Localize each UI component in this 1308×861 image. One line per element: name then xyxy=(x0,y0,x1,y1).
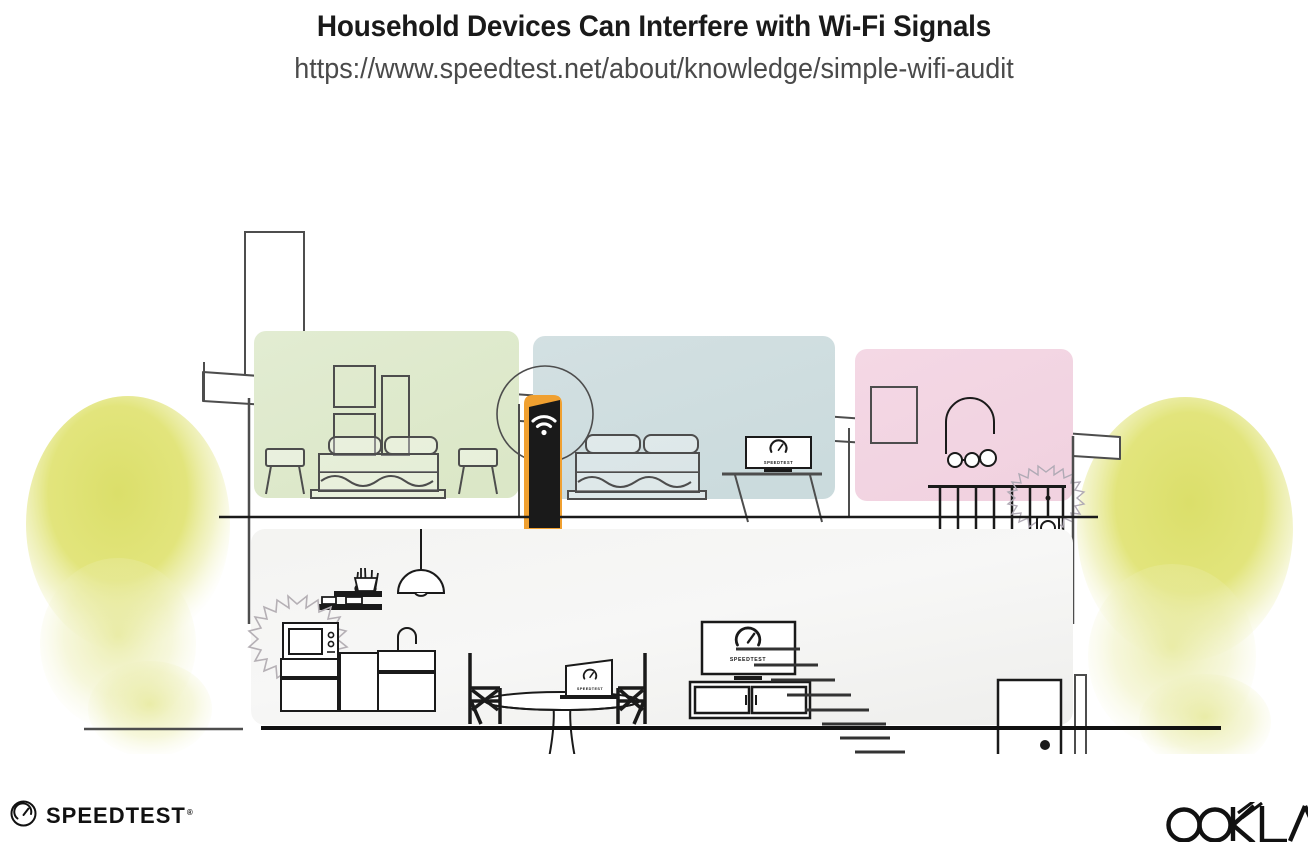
screen-label: SPEEDTEST xyxy=(764,460,793,465)
speedtest-logo: SPEEDTEST® xyxy=(10,800,194,832)
ookla-logo: ™ xyxy=(1162,802,1308,842)
microwave xyxy=(283,623,338,660)
source-url: https://www.speedtest.net/about/knowledg… xyxy=(46,46,1262,87)
monitor: SPEEDTEST xyxy=(746,437,811,472)
media-console xyxy=(690,682,810,718)
screen-label: SPEEDTEST xyxy=(577,687,603,691)
footer: SPEEDTEST® ™ xyxy=(0,782,1308,861)
ground-lines xyxy=(84,728,1221,729)
trademark-symbol: ® xyxy=(187,808,194,817)
kitchen-counter xyxy=(281,651,435,711)
infographic-page: Household Devices Can Interfere with Wi-… xyxy=(0,0,1308,861)
speedometer-icon xyxy=(10,800,37,832)
room-living-kitchen: SPEEDTEST xyxy=(249,529,1086,754)
television: SPEEDTEST xyxy=(702,622,795,680)
room-bedroom-green xyxy=(254,331,519,498)
wifi-router xyxy=(524,395,562,534)
foliage-left xyxy=(26,396,230,754)
pillow xyxy=(586,435,640,453)
screen-label: SPEEDTEST xyxy=(730,657,766,663)
speedtest-wordmark: SPEEDTEST® xyxy=(46,803,194,829)
bed xyxy=(311,437,445,498)
door-knob xyxy=(1040,740,1050,750)
laptop: SPEEDTEST xyxy=(560,660,618,699)
door xyxy=(998,680,1061,754)
pillow xyxy=(329,437,381,454)
bed xyxy=(568,435,706,499)
window-column xyxy=(1075,675,1086,754)
pillow xyxy=(644,435,698,453)
header: Household Devices Can Interfere with Wi-… xyxy=(0,0,1308,87)
house-cutaway-illustration: SPEEDTEST xyxy=(0,104,1308,754)
pillow xyxy=(385,437,437,454)
page-title: Household Devices Can Interfere with Wi-… xyxy=(46,0,1262,46)
